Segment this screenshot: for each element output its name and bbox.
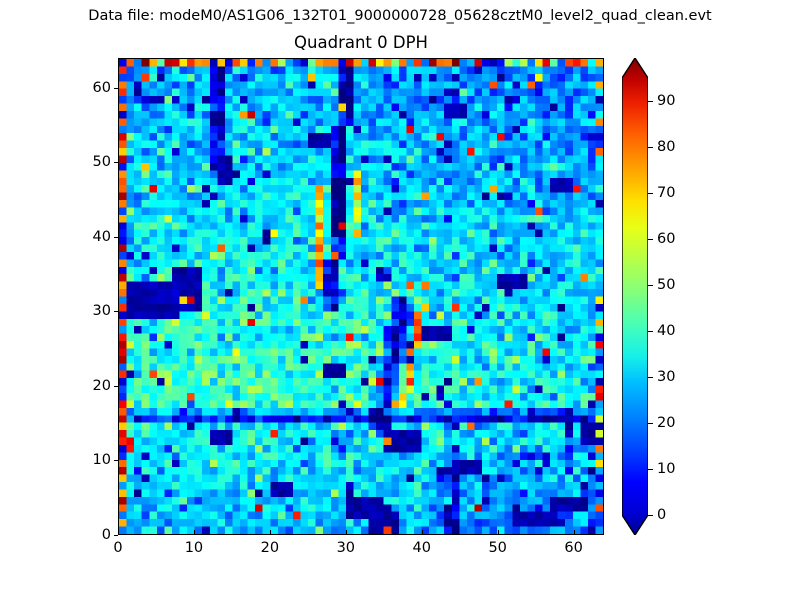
y-tick-label: 40 (93, 229, 111, 245)
y-tick-mark (114, 386, 118, 387)
x-tick-label: 40 (413, 540, 431, 556)
data-file-label: Data file: modeM0/AS1G06_132T01_90000007… (0, 7, 800, 25)
y-tick-mark (114, 535, 118, 536)
colorbar-tick-label: 90 (657, 93, 675, 109)
colorbar-tick-mark (648, 239, 653, 240)
y-tick-label: 30 (93, 303, 111, 319)
plot-title: Quadrant 0 DPH (118, 33, 604, 53)
x-tick-mark (574, 530, 575, 534)
x-tick-mark (346, 530, 347, 534)
y-tick-label: 20 (93, 378, 111, 394)
colorbar-tick-mark (648, 147, 653, 148)
dph-heatmap-axes[interactable] (118, 58, 604, 535)
colorbar-tick-mark (648, 101, 653, 102)
figure-canvas: Data file: modeM0/AS1G06_132T01_90000007… (0, 0, 800, 600)
x-tick-mark (118, 530, 119, 534)
colorbar-tick-label: 0 (657, 507, 666, 523)
colorbar-tick-labels: 0102030405060708090 (622, 58, 702, 535)
x-tick-mark (422, 530, 423, 534)
colorbar-tick-label: 60 (657, 231, 675, 247)
y-tick-mark (114, 162, 118, 163)
colorbar-tick-mark (648, 331, 653, 332)
x-tick-mark (498, 530, 499, 534)
y-tick-label: 0 (102, 527, 111, 543)
colorbar-tick-label: 10 (657, 461, 675, 477)
colorbar-tick-mark (648, 423, 653, 424)
colorbar-tick-mark (648, 515, 653, 516)
y-tick-mark (114, 311, 118, 312)
x-tick-label: 50 (488, 540, 506, 556)
x-tick-mark (194, 530, 195, 534)
x-tick-label: 0 (113, 540, 122, 556)
x-tick-label: 30 (337, 540, 355, 556)
colorbar-tick-label: 30 (657, 369, 675, 385)
colorbar-tick-label: 50 (657, 277, 675, 293)
x-tick-label: 10 (185, 540, 203, 556)
colorbar-tick-mark (648, 377, 653, 378)
x-tick-mark (270, 530, 271, 534)
colorbar-tick-mark (648, 469, 653, 470)
dph-heatmap-image (119, 59, 603, 534)
x-tick-label: 60 (564, 540, 582, 556)
colorbar-tick-mark (648, 285, 653, 286)
colorbar-tick-label: 20 (657, 415, 675, 431)
colorbar-tick-mark (648, 193, 653, 194)
colorbar-tick-label: 70 (657, 185, 675, 201)
y-tick-mark (114, 237, 118, 238)
y-tick-mark (114, 88, 118, 89)
x-tick-label: 20 (261, 540, 279, 556)
y-axis-ticks: 0102030405060 (58, 58, 118, 535)
colorbar-tick-label: 40 (657, 323, 675, 339)
y-tick-label: 60 (93, 80, 111, 96)
y-tick-label: 10 (93, 452, 111, 468)
x-axis-ticks: 0102030405060 (118, 534, 604, 574)
y-tick-label: 50 (93, 154, 111, 170)
colorbar-tick-label: 80 (657, 139, 675, 155)
y-tick-mark (114, 460, 118, 461)
